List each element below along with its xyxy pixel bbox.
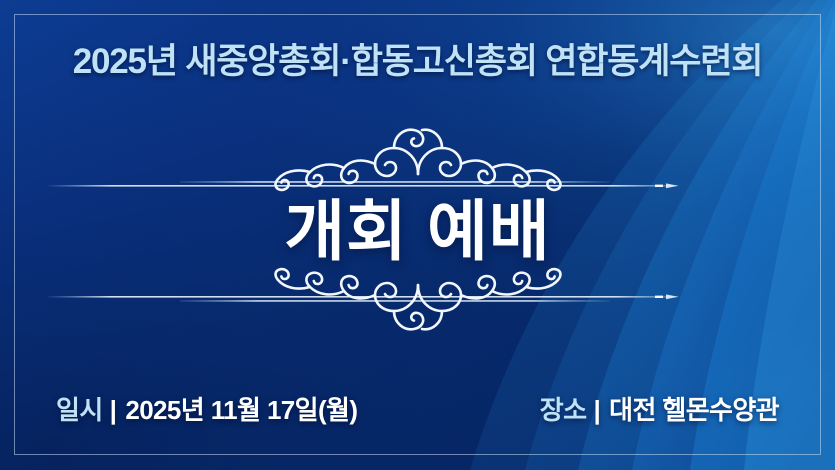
- event-date-label: 일시: [56, 390, 103, 427]
- event-venue-block: 장소 | 대전 헬몬수양관: [540, 390, 779, 427]
- event-venue-label: 장소: [540, 390, 587, 427]
- page-title: 2025년 새중앙총회·합동고신총회 연합동계수련회: [0, 33, 835, 84]
- filigree-scroll-ornament-mirrored-icon: [88, 269, 748, 341]
- event-date-block: 일시 | 2025년 11월 17일(월): [56, 390, 357, 427]
- event-venue-value: 대전 헬몬수양관: [609, 390, 779, 427]
- presentation-slide: 2025년 새중앙총회·합동고신총회 연합동계수련회: [0, 0, 835, 470]
- footer: 일시 | 2025년 11월 17일(월) 장소 | 대전 헬몬수양관: [56, 390, 779, 427]
- main-heading: 개회 예배: [284, 196, 550, 267]
- event-date-value: 2025년 11월 17일(월): [125, 390, 357, 427]
- filigree-scroll-ornament-icon: [88, 118, 748, 190]
- event-date-separator: |: [103, 395, 126, 426]
- event-venue-separator: |: [586, 395, 609, 426]
- center-content-block: 개회 예배: [0, 118, 835, 341]
